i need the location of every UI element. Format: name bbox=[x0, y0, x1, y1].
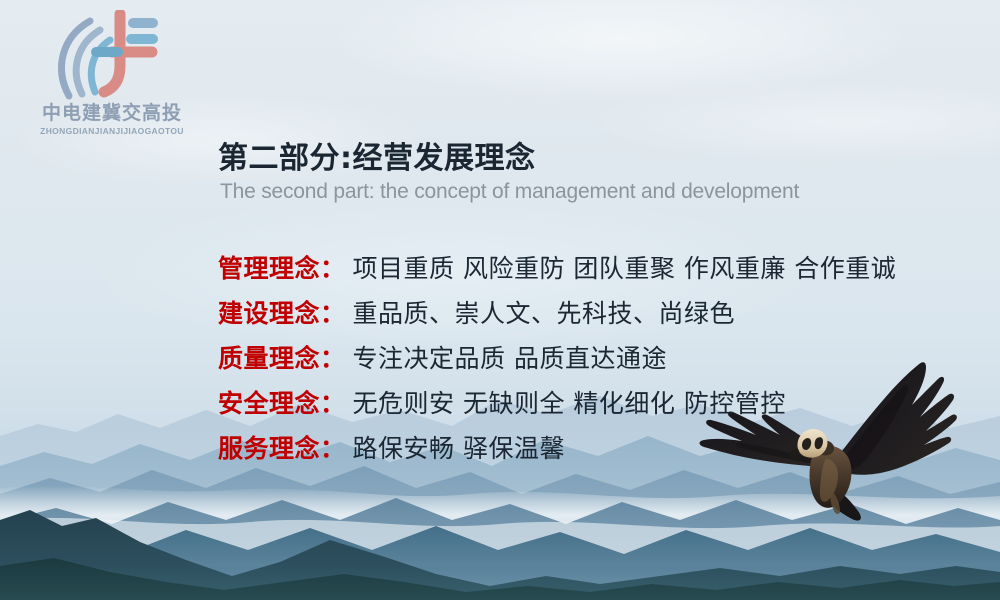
concept-label: 质量理念： bbox=[218, 339, 346, 375]
slide-canvas: 中电建冀交高投 ZHONGDIANJIANJIJIAOGAOTOU 第二部分:经… bbox=[0, 0, 1000, 600]
concept-label: 服务理念： bbox=[218, 429, 346, 465]
concept-label: 建设理念： bbox=[218, 294, 346, 330]
concept-row-safety: 安全理念： 无危则安 无缺则全 精化细化 防控管控 bbox=[218, 379, 978, 424]
concept-value: 无危则安 无缺则全 精化细化 防控管控 bbox=[353, 384, 786, 420]
concept-value: 项目重质 风险重防 团队重聚 作风重廉 合作重诚 bbox=[353, 249, 897, 285]
concept-row-service: 服务理念： 路保安畅 驿保温馨 bbox=[218, 424, 978, 469]
concept-value: 重品质、崇人文、先科技、尚绿色 bbox=[353, 294, 736, 330]
concept-row-quality: 质量理念： 专注决定品质 品质直达通途 bbox=[218, 334, 978, 379]
concept-label: 安全理念： bbox=[218, 384, 346, 420]
logo-company-name-cn: 中电建冀交高投 bbox=[22, 103, 202, 124]
logo-company-name-pinyin: ZHONGDIANJIANJIJIAOGAOTOU bbox=[22, 126, 202, 136]
concept-value: 路保安畅 驿保温馨 bbox=[353, 429, 565, 465]
concept-label: 管理理念： bbox=[218, 249, 346, 285]
section-subtitle: The second part: the concept of manageme… bbox=[220, 180, 799, 204]
company-logo: 中电建冀交高投 ZHONGDIANJIANJIJIAOGAOTOU bbox=[22, 10, 202, 136]
concept-list: 管理理念： 项目重质 风险重防 团队重聚 作风重廉 合作重诚 建设理念： 重品质… bbox=[218, 244, 978, 469]
section-title: 第二部分:经营发展理念 bbox=[218, 133, 536, 177]
concept-row-management: 管理理念： 项目重质 风险重防 团队重聚 作风重廉 合作重诚 bbox=[218, 244, 978, 289]
concept-row-construction: 建设理念： 重品质、崇人文、先科技、尚绿色 bbox=[218, 289, 978, 334]
logo-mark-icon bbox=[22, 10, 202, 102]
concept-value: 专注决定品质 品质直达通途 bbox=[353, 339, 667, 375]
